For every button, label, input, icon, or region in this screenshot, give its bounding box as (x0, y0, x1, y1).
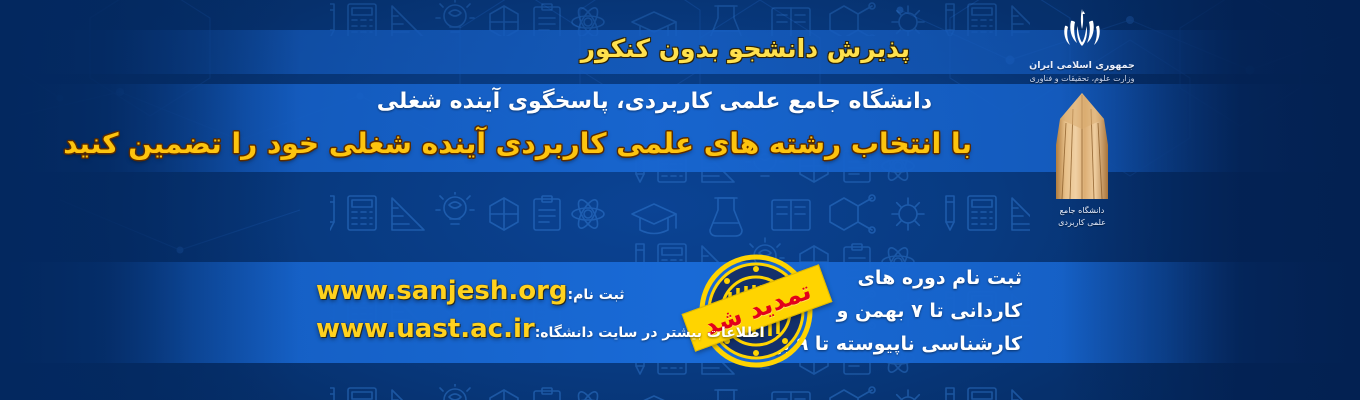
left-edge-shade (0, 0, 300, 400)
uast-pen-nib-icon (1046, 93, 1118, 203)
headline-tagline: با انتخاب رشته های علمی کاربردی آینده شغ… (63, 127, 972, 160)
headline-primary: پذیرش دانشجو بدون کنکور (581, 34, 910, 63)
logo-caption-university-line1: دانشگاه جامع (1022, 205, 1142, 217)
url-value-uast[interactable]: www.uast.ac.ir (316, 314, 535, 344)
headline-secondary: دانشگاه جامع علمی کاربردی، پاسخگوی آینده… (377, 89, 932, 114)
uast-admission-banner: پذیرش دانشجو بدون کنکور دانشگاه جامع علم… (0, 0, 1360, 400)
logo-caption-ministry: وزارت علوم، تحقیقات و فناوری (1022, 74, 1142, 83)
url-value-sanjesh[interactable]: www.sanjesh.org (316, 276, 568, 306)
url-label-registration: ثبت نام: (568, 287, 625, 303)
info-band-bottom (0, 262, 1360, 363)
url-label-university: اطلاعات بیشتر در سایت دانشگاه: (535, 325, 765, 341)
url-row-university: اطلاعات بیشتر در سایت دانشگاه: www.uast.… (316, 314, 636, 344)
extended-deadline-stamp: تمدید شد (690, 252, 822, 370)
logo-caption-university-line2: علمی کاربردی (1022, 217, 1142, 229)
logo-caption-country: جمهوری اسلامی ایران (1022, 60, 1142, 71)
organization-logo-block: جمهوری اسلامی ایران وزارت علوم، تحقیقات … (1022, 6, 1142, 228)
url-row-registration: ثبت نام: www.sanjesh.org (316, 276, 636, 306)
iran-national-emblem-icon (1057, 6, 1107, 56)
contact-urls: ثبت نام: www.sanjesh.org اطلاعات بیشتر د… (316, 276, 636, 344)
logo-caption-university: دانشگاه جامع علمی کاربردی (1022, 205, 1142, 228)
